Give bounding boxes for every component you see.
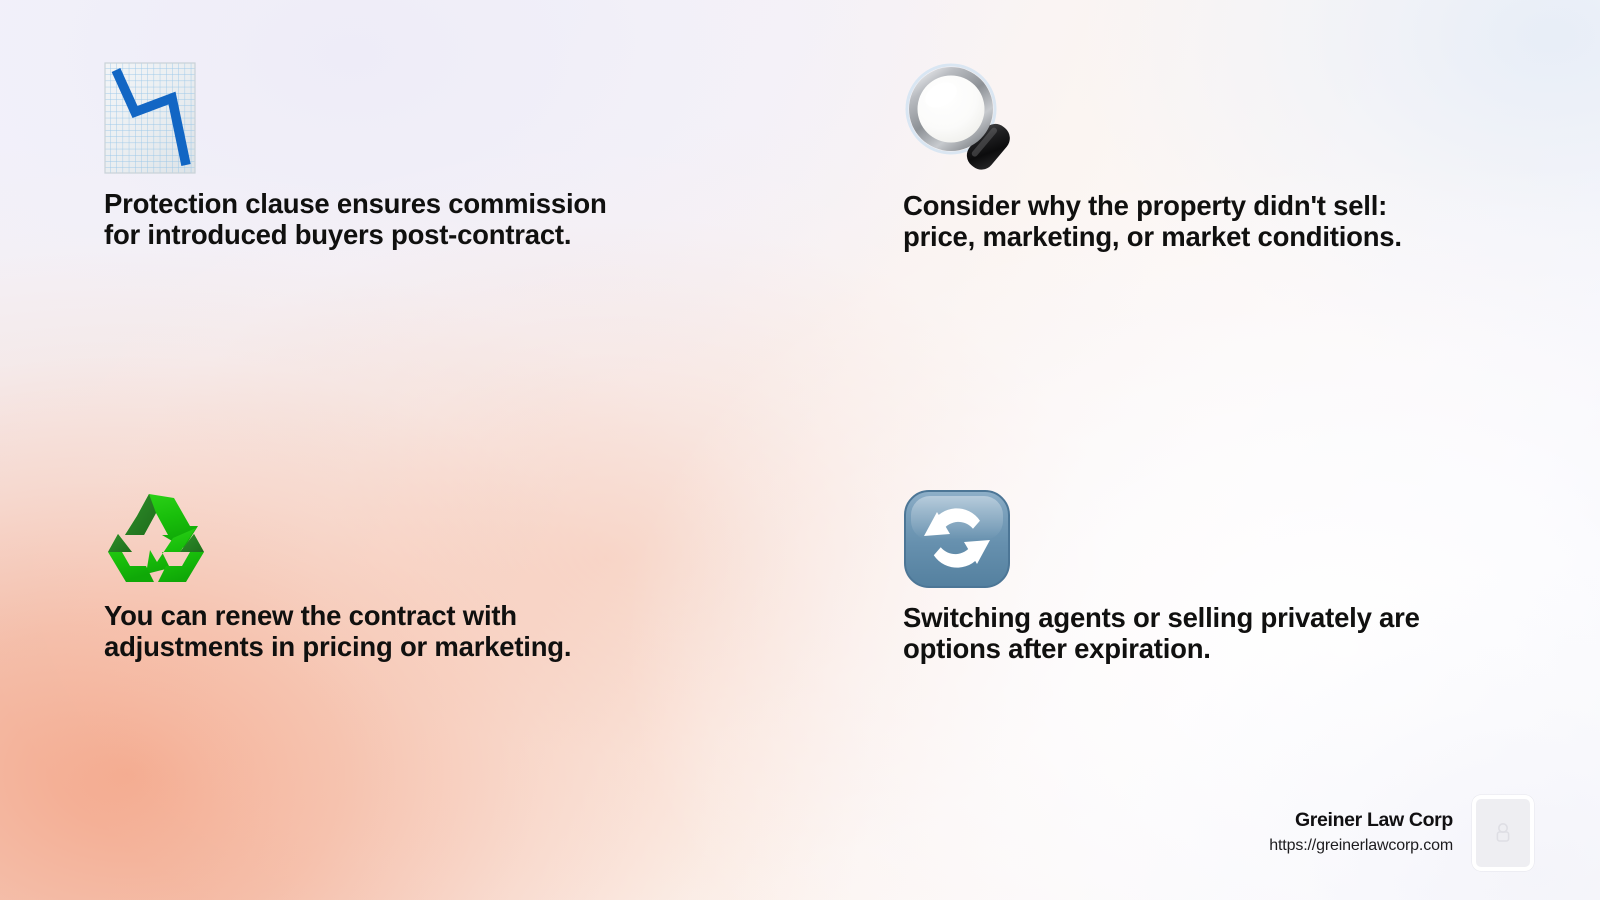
- footer-branding: Greiner Law Corp https://greinerlawcorp.…: [1269, 795, 1534, 871]
- tip-text-bottom-left: You can renew the contract with adjustme…: [104, 600, 694, 663]
- magnifying-glass-tilted-left-icon: [903, 62, 1503, 176]
- tip-text-bottom-right: Switching agents or selling privately ar…: [903, 602, 1493, 665]
- brand-name: Greiner Law Corp: [1269, 809, 1453, 833]
- footer-text-block: Greiner Law Corp https://greinerlawcorp.…: [1269, 809, 1453, 856]
- tips-grid: Protection clause ensures commission for…: [0, 0, 1600, 900]
- tip-card-bottom-right: Switching agents or selling privately ar…: [903, 490, 1503, 665]
- counterclockwise-arrows-button-icon: [903, 490, 1503, 588]
- tip-card-bottom-left: You can renew the contract with adjustme…: [104, 490, 704, 663]
- brand-url[interactable]: https://greinerlawcorp.com: [1269, 835, 1453, 857]
- brand-logo-glyph-icon: [1493, 821, 1513, 845]
- tip-text-top-right: Consider why the property didn't sell: p…: [903, 190, 1493, 253]
- tip-text-top-left: Protection clause ensures commission for…: [104, 188, 694, 251]
- chart-decreasing-icon: [104, 62, 704, 174]
- brand-logo-placeholder: [1472, 795, 1534, 871]
- tip-card-top-left: Protection clause ensures commission for…: [104, 62, 704, 251]
- recycling-symbol-icon: [104, 490, 704, 586]
- tip-card-top-right: Consider why the property didn't sell: p…: [903, 62, 1503, 253]
